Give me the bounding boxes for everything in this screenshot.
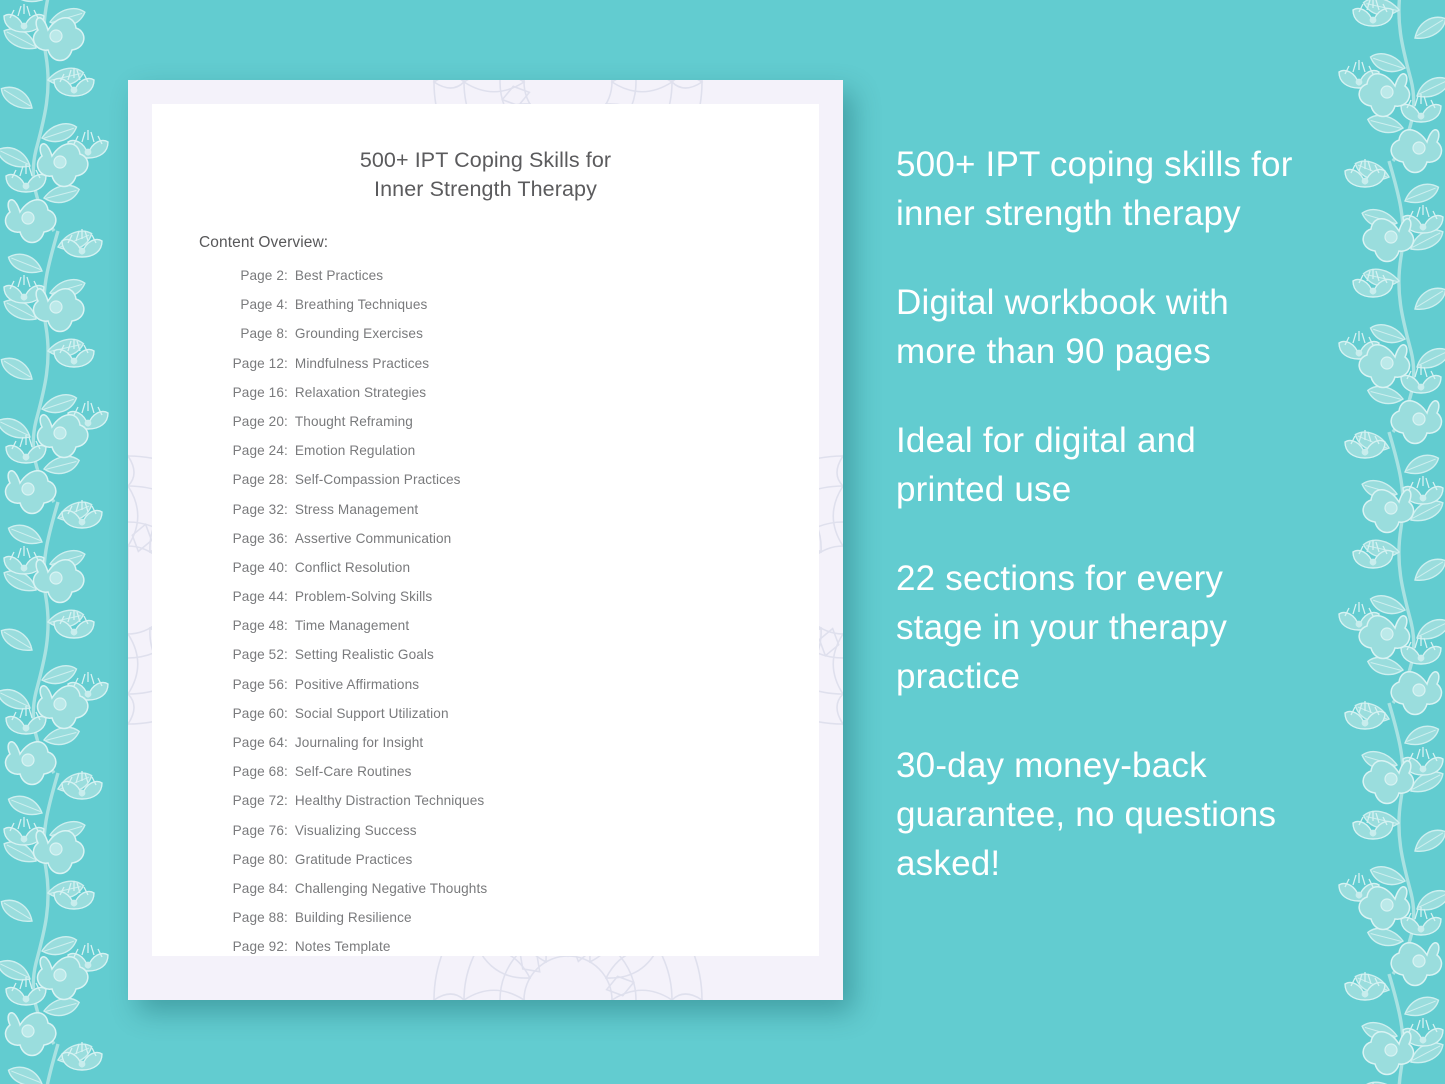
toc-item: Page 80:Gratitude Practices	[222, 852, 819, 881]
toc-item: Page 72:Healthy Distraction Techniques	[222, 793, 819, 822]
toc-item: Page 36:Assertive Communication	[222, 531, 819, 560]
page-title-line-1: 500+ IPT Coping Skills for	[152, 146, 819, 175]
toc-item: Page 56:Positive Affirmations	[222, 677, 819, 706]
toc-item-colon: :	[284, 881, 295, 896]
toc-item-colon: :	[284, 356, 295, 371]
toc-item-colon: :	[284, 443, 295, 458]
toc-item-title: Time Management	[295, 618, 409, 633]
toc-item-title: Self-Care Routines	[295, 764, 412, 779]
page-title-line-2: Inner Strength Therapy	[152, 175, 819, 204]
toc-item: Page 4:Breathing Techniques	[222, 297, 819, 326]
toc-item: Page 92:Notes Template	[222, 939, 819, 968]
toc-item: Page 48:Time Management	[222, 618, 819, 647]
toc-item-page: Page 44	[222, 589, 284, 604]
table-of-contents-list: Page 2:Best PracticesPage 4:Breathing Te…	[152, 252, 819, 969]
toc-item-colon: :	[284, 764, 295, 779]
toc-item-title: Healthy Distraction Techniques	[295, 793, 484, 808]
toc-item: Page 60:Social Support Utilization	[222, 706, 819, 735]
toc-item-page: Page 4	[222, 297, 284, 312]
toc-item: Page 24:Emotion Regulation	[222, 443, 819, 472]
toc-item-colon: :	[284, 852, 295, 867]
toc-item: Page 2:Best Practices	[222, 268, 819, 297]
toc-item-title: Best Practices	[295, 268, 383, 283]
feature-item: 500+ IPT coping skills for inner strengt…	[896, 140, 1308, 238]
toc-item-page: Page 36	[222, 531, 284, 546]
toc-item-page: Page 80	[222, 852, 284, 867]
toc-item-title: Relaxation Strategies	[295, 385, 426, 400]
toc-item: Page 32:Stress Management	[222, 502, 819, 531]
feature-item: 22 sections for every stage in your ther…	[896, 554, 1308, 701]
toc-item-colon: :	[284, 910, 295, 925]
toc-item-colon: :	[284, 823, 295, 838]
toc-item-title: Grounding Exercises	[295, 326, 423, 341]
workbook-page: 500+ IPT Coping Skills for Inner Strengt…	[152, 104, 819, 956]
toc-item: Page 8:Grounding Exercises	[222, 326, 819, 355]
toc-item-title: Conflict Resolution	[295, 560, 410, 575]
toc-item: Page 88:Building Resilience	[222, 910, 819, 939]
toc-item-page: Page 20	[222, 414, 284, 429]
toc-item-page: Page 52	[222, 647, 284, 662]
toc-item-page: Page 84	[222, 881, 284, 896]
toc-item-colon: :	[284, 647, 295, 662]
toc-item: Page 84:Challenging Negative Thoughts	[222, 881, 819, 910]
toc-item-colon: :	[284, 268, 295, 283]
toc-item-title: Setting Realistic Goals	[295, 647, 434, 662]
toc-item-colon: :	[284, 706, 295, 721]
toc-item: Page 44:Problem-Solving Skills	[222, 589, 819, 618]
feature-list: 500+ IPT coping skills for inner strengt…	[896, 140, 1308, 888]
toc-item-page: Page 2	[222, 268, 284, 283]
toc-item-page: Page 48	[222, 618, 284, 633]
toc-item-colon: :	[284, 793, 295, 808]
toc-item-title: Emotion Regulation	[295, 443, 415, 458]
toc-item: Page 16:Relaxation Strategies	[222, 385, 819, 414]
toc-item-title: Stress Management	[295, 502, 418, 517]
toc-item-page: Page 72	[222, 793, 284, 808]
toc-item: Page 68:Self-Care Routines	[222, 764, 819, 793]
toc-item-colon: :	[284, 502, 295, 517]
toc-item-page: Page 12	[222, 356, 284, 371]
toc-item-title: Assertive Communication	[295, 531, 451, 546]
toc-item-title: Challenging Negative Thoughts	[295, 881, 487, 896]
toc-item-colon: :	[284, 560, 295, 575]
workbook-preview-card: 500+ IPT Coping Skills for Inner Strengt…	[128, 80, 843, 1000]
toc-item-page: Page 88	[222, 910, 284, 925]
toc-item: Page 28:Self-Compassion Practices	[222, 472, 819, 501]
toc-item-page: Page 68	[222, 764, 284, 779]
toc-item-colon: :	[284, 326, 295, 341]
toc-item-colon: :	[284, 297, 295, 312]
toc-item-colon: :	[284, 939, 295, 954]
feature-item: Ideal for digital and printed use	[896, 416, 1308, 514]
toc-item-page: Page 8	[222, 326, 284, 341]
floral-vine-border-right-icon	[1329, 0, 1445, 1084]
toc-item-title: Positive Affirmations	[295, 677, 419, 692]
page-title: 500+ IPT Coping Skills for Inner Strengt…	[152, 104, 819, 204]
toc-item: Page 20:Thought Reframing	[222, 414, 819, 443]
toc-item-page: Page 40	[222, 560, 284, 575]
toc-item-page: Page 60	[222, 706, 284, 721]
toc-item-colon: :	[284, 385, 295, 400]
toc-item-colon: :	[284, 735, 295, 750]
toc-item-page: Page 24	[222, 443, 284, 458]
product-listing-image: 500+ IPT Coping Skills for Inner Strengt…	[0, 0, 1445, 1084]
toc-item: Page 76:Visualizing Success	[222, 823, 819, 852]
toc-item-page: Page 92	[222, 939, 284, 954]
toc-item-title: Thought Reframing	[295, 414, 413, 429]
toc-item-title: Social Support Utilization	[295, 706, 449, 721]
toc-item-colon: :	[284, 472, 295, 487]
content-overview-label: Content Overview:	[152, 204, 819, 252]
toc-item-title: Gratitude Practices	[295, 852, 413, 867]
toc-item-page: Page 56	[222, 677, 284, 692]
toc-item-title: Problem-Solving Skills	[295, 589, 432, 604]
toc-item-title: Self-Compassion Practices	[295, 472, 461, 487]
toc-item-title: Journaling for Insight	[295, 735, 423, 750]
toc-item-colon: :	[284, 531, 295, 546]
toc-item-page: Page 64	[222, 735, 284, 750]
toc-item-title: Mindfulness Practices	[295, 356, 429, 371]
toc-item-page: Page 16	[222, 385, 284, 400]
toc-item-title: Building Resilience	[295, 910, 412, 925]
toc-item-page: Page 76	[222, 823, 284, 838]
feature-item: 30-day money-back guarantee, no question…	[896, 741, 1308, 888]
feature-item: Digital workbook with more than 90 pages	[896, 278, 1308, 376]
floral-vine-border-left-icon	[0, 0, 118, 1084]
toc-item: Page 52:Setting Realistic Goals	[222, 647, 819, 676]
toc-item-colon: :	[284, 414, 295, 429]
toc-item-colon: :	[284, 677, 295, 692]
toc-item: Page 40:Conflict Resolution	[222, 560, 819, 589]
toc-item-page: Page 32	[222, 502, 284, 517]
toc-item: Page 12:Mindfulness Practices	[222, 356, 819, 385]
toc-item-colon: :	[284, 618, 295, 633]
toc-item-title: Visualizing Success	[295, 823, 417, 838]
toc-item: Page 64:Journaling for Insight	[222, 735, 819, 764]
toc-item-title: Notes Template	[295, 939, 391, 954]
toc-item-title: Breathing Techniques	[295, 297, 428, 312]
toc-item-colon: :	[284, 589, 295, 604]
toc-item-page: Page 28	[222, 472, 284, 487]
